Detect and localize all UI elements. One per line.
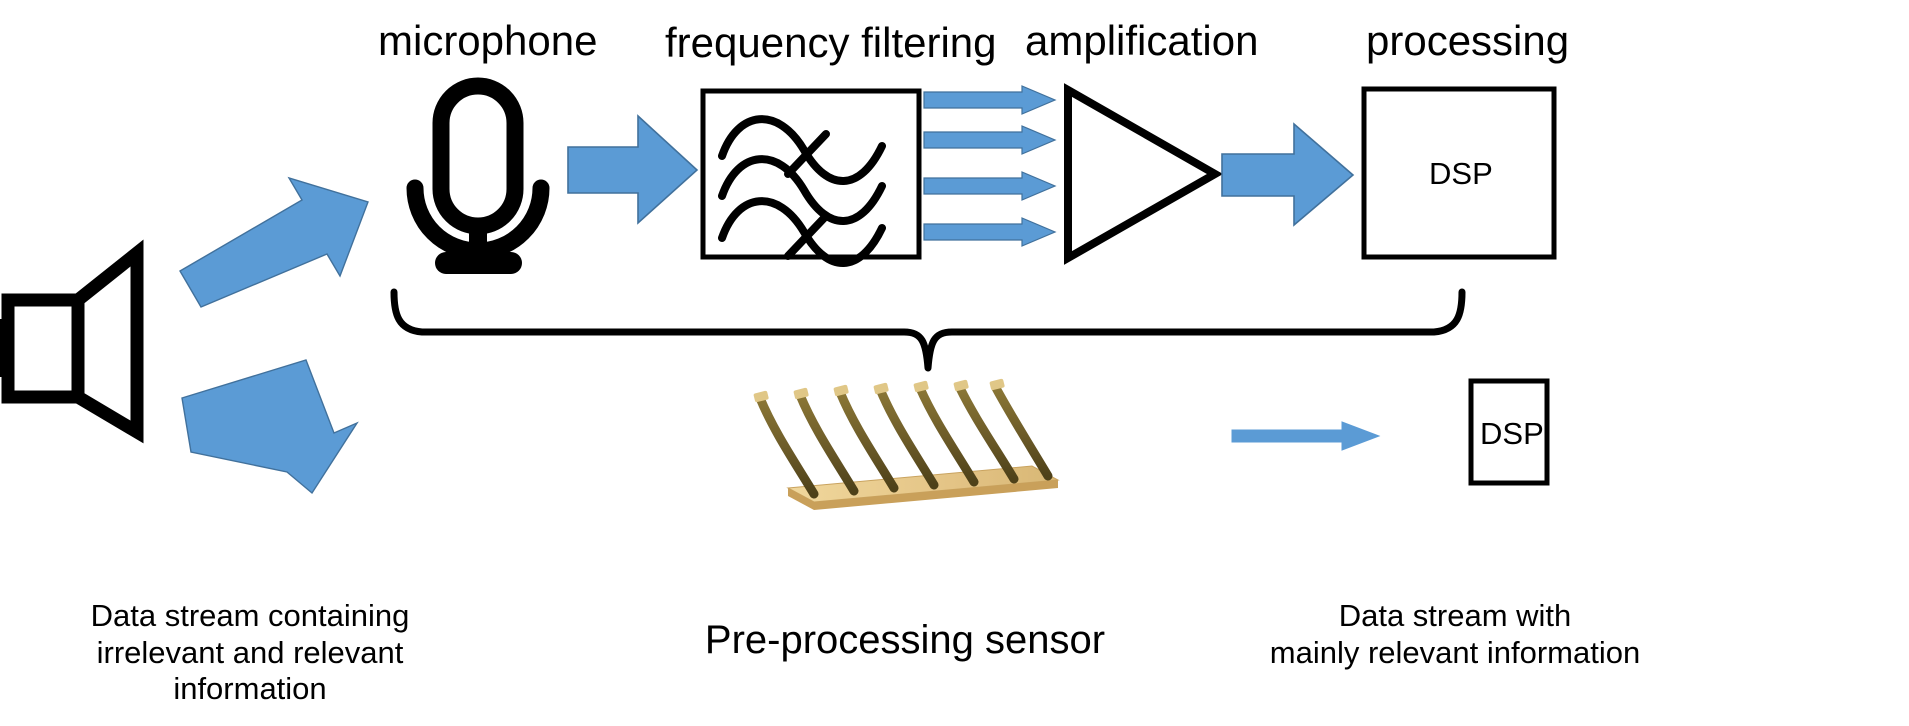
diagram-canvas: microphone frequency filtering amplifica… [0, 0, 1909, 726]
caption-right: Data stream with mainly relevant informa… [1175, 598, 1735, 671]
dsp-main-label: DSP [1429, 158, 1493, 189]
stacked-arrows-group [924, 86, 1056, 262]
label-amplification: amplification [1025, 20, 1258, 62]
arrow-upper-diverging [180, 178, 370, 308]
dsp-legend-label: DSP [1480, 418, 1544, 449]
label-processing: processing [1366, 20, 1569, 62]
frequency-filter-box [700, 88, 922, 260]
caption-right-line1: Data stream with [1175, 598, 1735, 635]
arrow-lower-diverging [182, 360, 377, 495]
legend-arrow [1232, 418, 1380, 454]
caption-left-line2: irrelevant and relevant information [20, 635, 480, 708]
arrow-amp-to-dsp [1222, 124, 1354, 226]
caption-left: Data stream containing irrelevant and re… [20, 598, 480, 708]
dsp-main-box: DSP [1361, 86, 1557, 260]
speaker-icon [0, 245, 150, 440]
dsp-legend-box: DSP [1468, 378, 1550, 486]
label-microphone: microphone [378, 20, 597, 62]
caption-right-line2: mainly relevant information [1175, 635, 1735, 672]
hair-cell-sensor [752, 388, 1062, 510]
amplifier-triangle [1062, 84, 1222, 264]
label-frequency-filtering: frequency filtering [665, 22, 997, 64]
caption-center: Pre-processing sensor [680, 620, 1130, 660]
arrow-mic-to-filter [568, 116, 698, 224]
curly-brace [388, 290, 1468, 372]
caption-left-line1: Data stream containing [20, 598, 480, 635]
caption-center-text: Pre-processing sensor [680, 620, 1130, 660]
microphone-icon [405, 80, 555, 275]
